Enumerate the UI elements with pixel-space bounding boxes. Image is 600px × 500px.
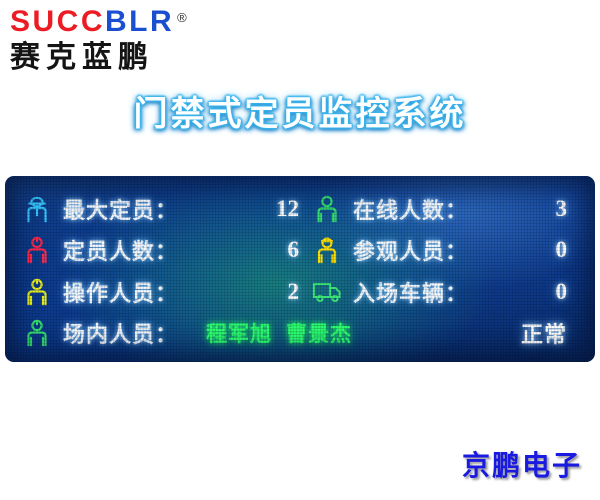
person-green-icon (311, 194, 343, 224)
person-helmet-green-icon (21, 318, 53, 348)
led-value: 0 (556, 279, 580, 305)
poster-root: SUCCBLR® 赛克蓝鹏 门禁式定员监控系统 (0, 0, 600, 500)
person-helmet-yellow-icon (21, 277, 53, 307)
led-field-operator-count: 操作人员： 2 (21, 273, 311, 311)
led-display-panel: 最大定员： 12 在线人数： (5, 176, 595, 362)
led-value: 2 (288, 279, 312, 305)
personnel-name: 曹景杰 (286, 322, 352, 346)
led-value: 6 (288, 237, 312, 263)
logo-wordmark-blue: BLR (105, 5, 174, 38)
company-logo: SUCCBLR® 赛克蓝鹏 (10, 6, 240, 76)
led-row: 操作人员： 2 入场车辆： (21, 273, 579, 311)
footer-company-name: 京鹏电子 (462, 444, 582, 484)
truck-green-icon (311, 277, 343, 307)
led-row: 定员人数： 6 (21, 231, 579, 269)
status-badge: 正常 (521, 317, 579, 349)
onsite-personnel-names: 程军旭曹景杰 (206, 318, 352, 348)
led-label: 入场车辆： (353, 276, 468, 308)
logo-wordmark-red: SUCC (10, 5, 105, 38)
led-field-visitor-count: 参观人员： 0 (311, 231, 579, 269)
page-title: 门禁式定员监控系统 (0, 92, 600, 136)
personnel-name: 程军旭 (206, 322, 272, 346)
logo-chinese-name: 赛克蓝鹏 (10, 40, 240, 76)
led-field-onsite-personnel: 场内人员： 程军旭曹景杰 正常 (21, 314, 579, 352)
led-value: 3 (556, 196, 580, 222)
led-label: 在线人数： (353, 193, 468, 225)
led-field-max-capacity: 最大定员： 12 (21, 190, 311, 228)
led-value: 0 (556, 237, 580, 263)
led-label: 参观人员： (353, 234, 468, 266)
led-value: 12 (276, 196, 311, 222)
led-label: 操作人员： (63, 276, 178, 308)
led-label: 定员人数： (63, 234, 178, 266)
led-field-online-count: 在线人数： 3 (311, 190, 579, 228)
led-label: 最大定员： (63, 193, 178, 225)
led-row: 最大定员： 12 在线人数： (21, 190, 579, 228)
logo-wordmark: SUCCBLR® (10, 6, 240, 38)
person-cap-cyan-icon (21, 194, 53, 224)
led-field-assigned-count: 定员人数： 6 (21, 231, 311, 269)
person-helmet-yellow-icon (311, 235, 343, 265)
registered-trademark-icon: ® (177, 2, 189, 34)
led-row: 场内人员： 程军旭曹景杰 正常 (21, 314, 579, 352)
led-label: 场内人员： (63, 317, 178, 349)
person-helmet-red-icon (21, 235, 53, 265)
led-field-vehicle-count: 入场车辆： 0 (311, 273, 579, 311)
